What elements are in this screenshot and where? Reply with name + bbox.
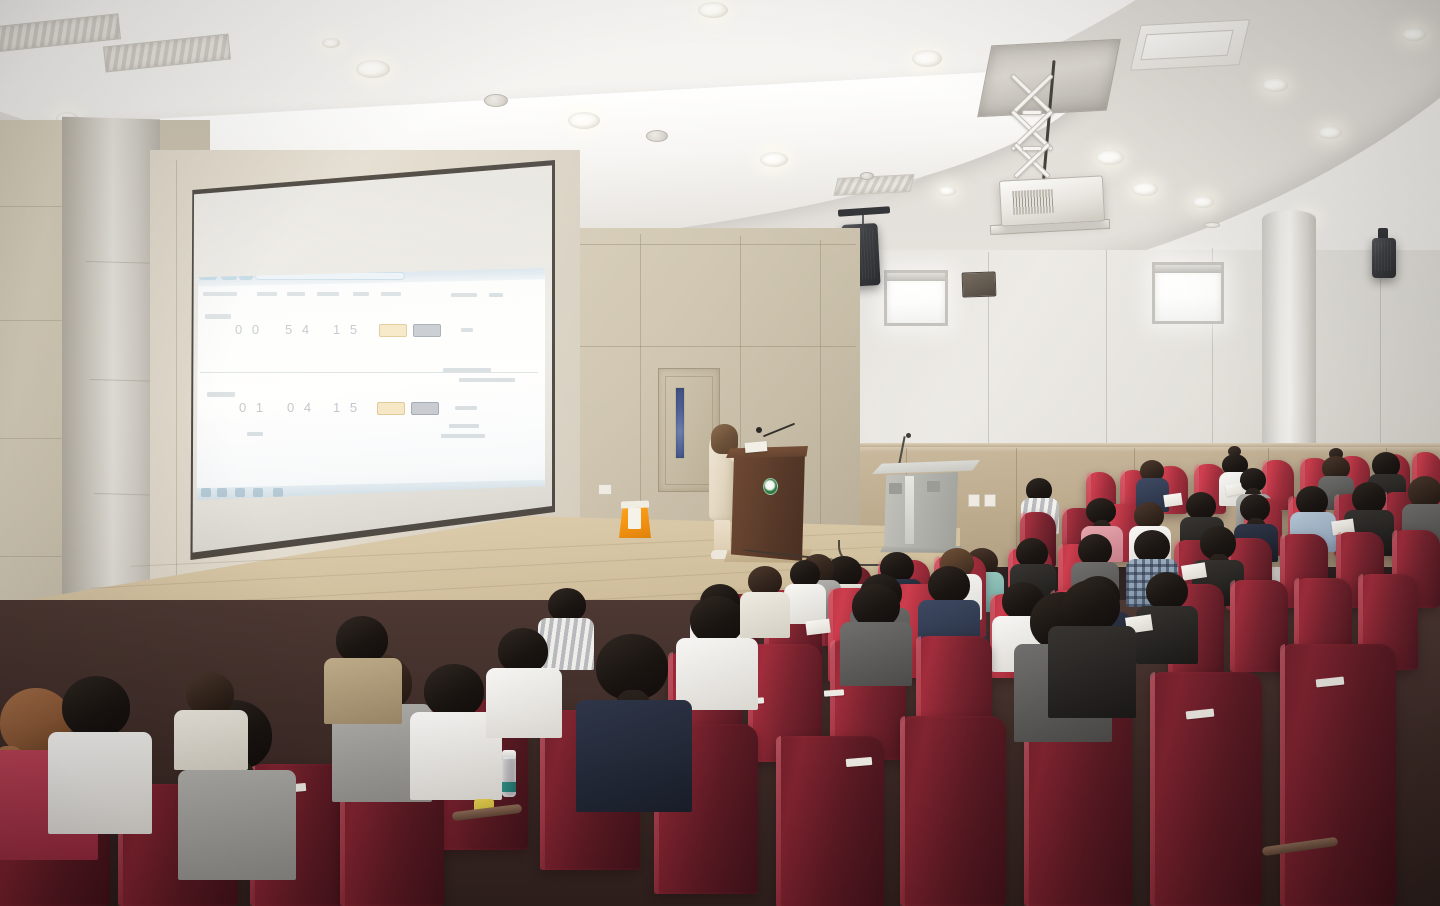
row-meta — [449, 424, 479, 428]
tile-grout-line — [0, 556, 64, 557]
ceiling-downlight — [938, 186, 956, 196]
blind-headrail — [887, 273, 945, 281]
person-head — [424, 664, 484, 718]
row-action-button-secondary[interactable] — [411, 402, 439, 415]
row-meta — [459, 378, 515, 382]
tile-grout-line — [0, 320, 64, 321]
wall-seam — [1106, 250, 1107, 450]
person-head — [690, 596, 744, 644]
row-value: 0 1 — [239, 400, 266, 415]
bottle-label — [502, 782, 516, 792]
nav-item — [353, 292, 369, 296]
ceiling-downlight — [1318, 126, 1342, 139]
projector-lift-hinge — [1022, 146, 1042, 151]
row-value: 1 5 — [333, 400, 360, 415]
smoke-detector — [484, 94, 508, 107]
person-torso — [486, 668, 562, 738]
ceiling-downlight — [322, 38, 340, 48]
wall-seam — [820, 240, 821, 536]
row-trailing-text — [455, 406, 477, 410]
auditorium-seat[interactable] — [1150, 672, 1262, 906]
person-torso — [740, 592, 790, 638]
section-heading — [205, 314, 231, 319]
person-head — [62, 676, 130, 738]
seat-piping — [1280, 644, 1285, 906]
person-torso — [576, 700, 692, 812]
ceiling-downlight — [698, 2, 728, 18]
person-head — [1186, 492, 1216, 520]
door-glass-panel — [675, 387, 685, 459]
ceiling-downlight — [568, 112, 600, 129]
ceiling-downlight — [356, 60, 390, 78]
tile-grout-line — [0, 206, 64, 207]
person-head — [548, 588, 586, 622]
wainscot-seam — [1016, 448, 1017, 548]
bag-label — [628, 508, 641, 529]
person-torso — [784, 584, 826, 624]
person-head — [1134, 502, 1164, 529]
person-torso — [1048, 626, 1136, 718]
taskbar-icon[interactable] — [217, 488, 227, 497]
ceiling-downlight — [1096, 150, 1124, 165]
blind-headrail — [1155, 265, 1221, 273]
row-value: 0 4 — [287, 400, 314, 415]
row-action-button-secondary[interactable] — [413, 324, 441, 337]
window-with-blind — [1152, 262, 1224, 324]
smoke-detector — [646, 130, 668, 142]
section-heading — [207, 392, 235, 397]
auditorium-seat[interactable] — [900, 716, 1006, 906]
person-head — [1146, 572, 1188, 610]
seat-piping — [1150, 672, 1155, 906]
nav-item — [257, 292, 277, 296]
row-value: 0 0 — [235, 322, 262, 337]
row-action-button-primary[interactable] — [379, 324, 407, 337]
taskbar-icon[interactable] — [253, 488, 263, 497]
row-divider — [200, 372, 538, 373]
presenter-legs — [714, 518, 730, 554]
notebook-page — [1163, 493, 1182, 507]
lectern-panel[interactable] — [927, 481, 940, 492]
person-torso — [48, 732, 152, 834]
nav-item — [489, 293, 503, 297]
row-meta — [443, 368, 491, 372]
taskbar-icon[interactable] — [201, 488, 211, 497]
seat-piping — [776, 736, 781, 906]
presenter-notes — [745, 441, 768, 453]
person-torso — [324, 658, 402, 724]
pa-speaker-wall — [1372, 238, 1396, 278]
ceiling-fixture — [1204, 222, 1220, 228]
seat-piping — [1230, 580, 1235, 672]
ceiling-downlight — [1192, 196, 1214, 208]
ceiling-downlight — [1132, 182, 1158, 196]
wall-outlet[interactable] — [598, 484, 612, 495]
person-head — [928, 566, 970, 604]
seat-piping — [900, 716, 905, 906]
wall-seam — [564, 346, 856, 347]
nav-item — [203, 292, 237, 296]
page-nav-row — [203, 290, 541, 300]
person-head — [336, 616, 388, 664]
ceiling-downlight — [1402, 28, 1426, 41]
row-meta — [247, 432, 263, 436]
taskbar-icon[interactable] — [235, 488, 245, 497]
wall-seam — [1380, 250, 1381, 450]
wall-seam — [640, 234, 641, 546]
podium-emblem-icon — [763, 478, 778, 495]
projector-lift-hinge — [1022, 110, 1042, 115]
tile-grout-line — [176, 160, 177, 580]
row-meta — [441, 434, 485, 438]
wall-control-box[interactable] — [962, 271, 997, 297]
person-torso — [676, 638, 758, 710]
ceiling-access-panel — [1140, 30, 1233, 60]
taskbar-icon[interactable] — [273, 488, 283, 497]
person-torso — [178, 770, 296, 880]
wall-outlet[interactable] — [968, 494, 980, 507]
wall-outlet[interactable] — [984, 494, 996, 507]
lectern-microphone-head-icon — [906, 433, 911, 438]
nav-item — [287, 292, 305, 296]
tile-grout-line — [0, 438, 64, 439]
door-panel-frame — [665, 376, 713, 485]
person-torso — [840, 622, 912, 686]
microphone-head-icon — [756, 427, 762, 433]
ceiling-downlight — [760, 152, 788, 167]
wall-seam — [564, 244, 856, 245]
ceiling-downlight — [1262, 78, 1288, 92]
speaker-podium — [731, 451, 805, 561]
person-head — [1062, 580, 1120, 632]
lectern-panel[interactable] — [889, 483, 902, 494]
row-value: 1 5 — [333, 322, 360, 337]
speaker-grille — [1375, 242, 1393, 271]
projected-browser-window: 0 0 5 4 1 5 0 1 0 4 1 5 — [193, 268, 545, 500]
notebook-page — [805, 619, 831, 636]
nav-item — [381, 292, 401, 296]
auditorium-photo: 0 0 5 4 1 5 0 1 0 4 1 5 — [0, 0, 1440, 906]
lectern-stripe — [905, 476, 914, 544]
row-trailing-text — [461, 328, 473, 332]
projector-vent — [1012, 189, 1053, 215]
window-with-blind — [884, 270, 948, 326]
sprinkler-head — [860, 172, 874, 180]
nav-item — [317, 292, 339, 296]
row-value: 5 4 — [285, 322, 312, 337]
person-torso — [174, 710, 248, 770]
row-action-button-primary[interactable] — [377, 402, 405, 415]
nav-item — [451, 293, 477, 297]
ceiling-downlight — [912, 50, 942, 67]
